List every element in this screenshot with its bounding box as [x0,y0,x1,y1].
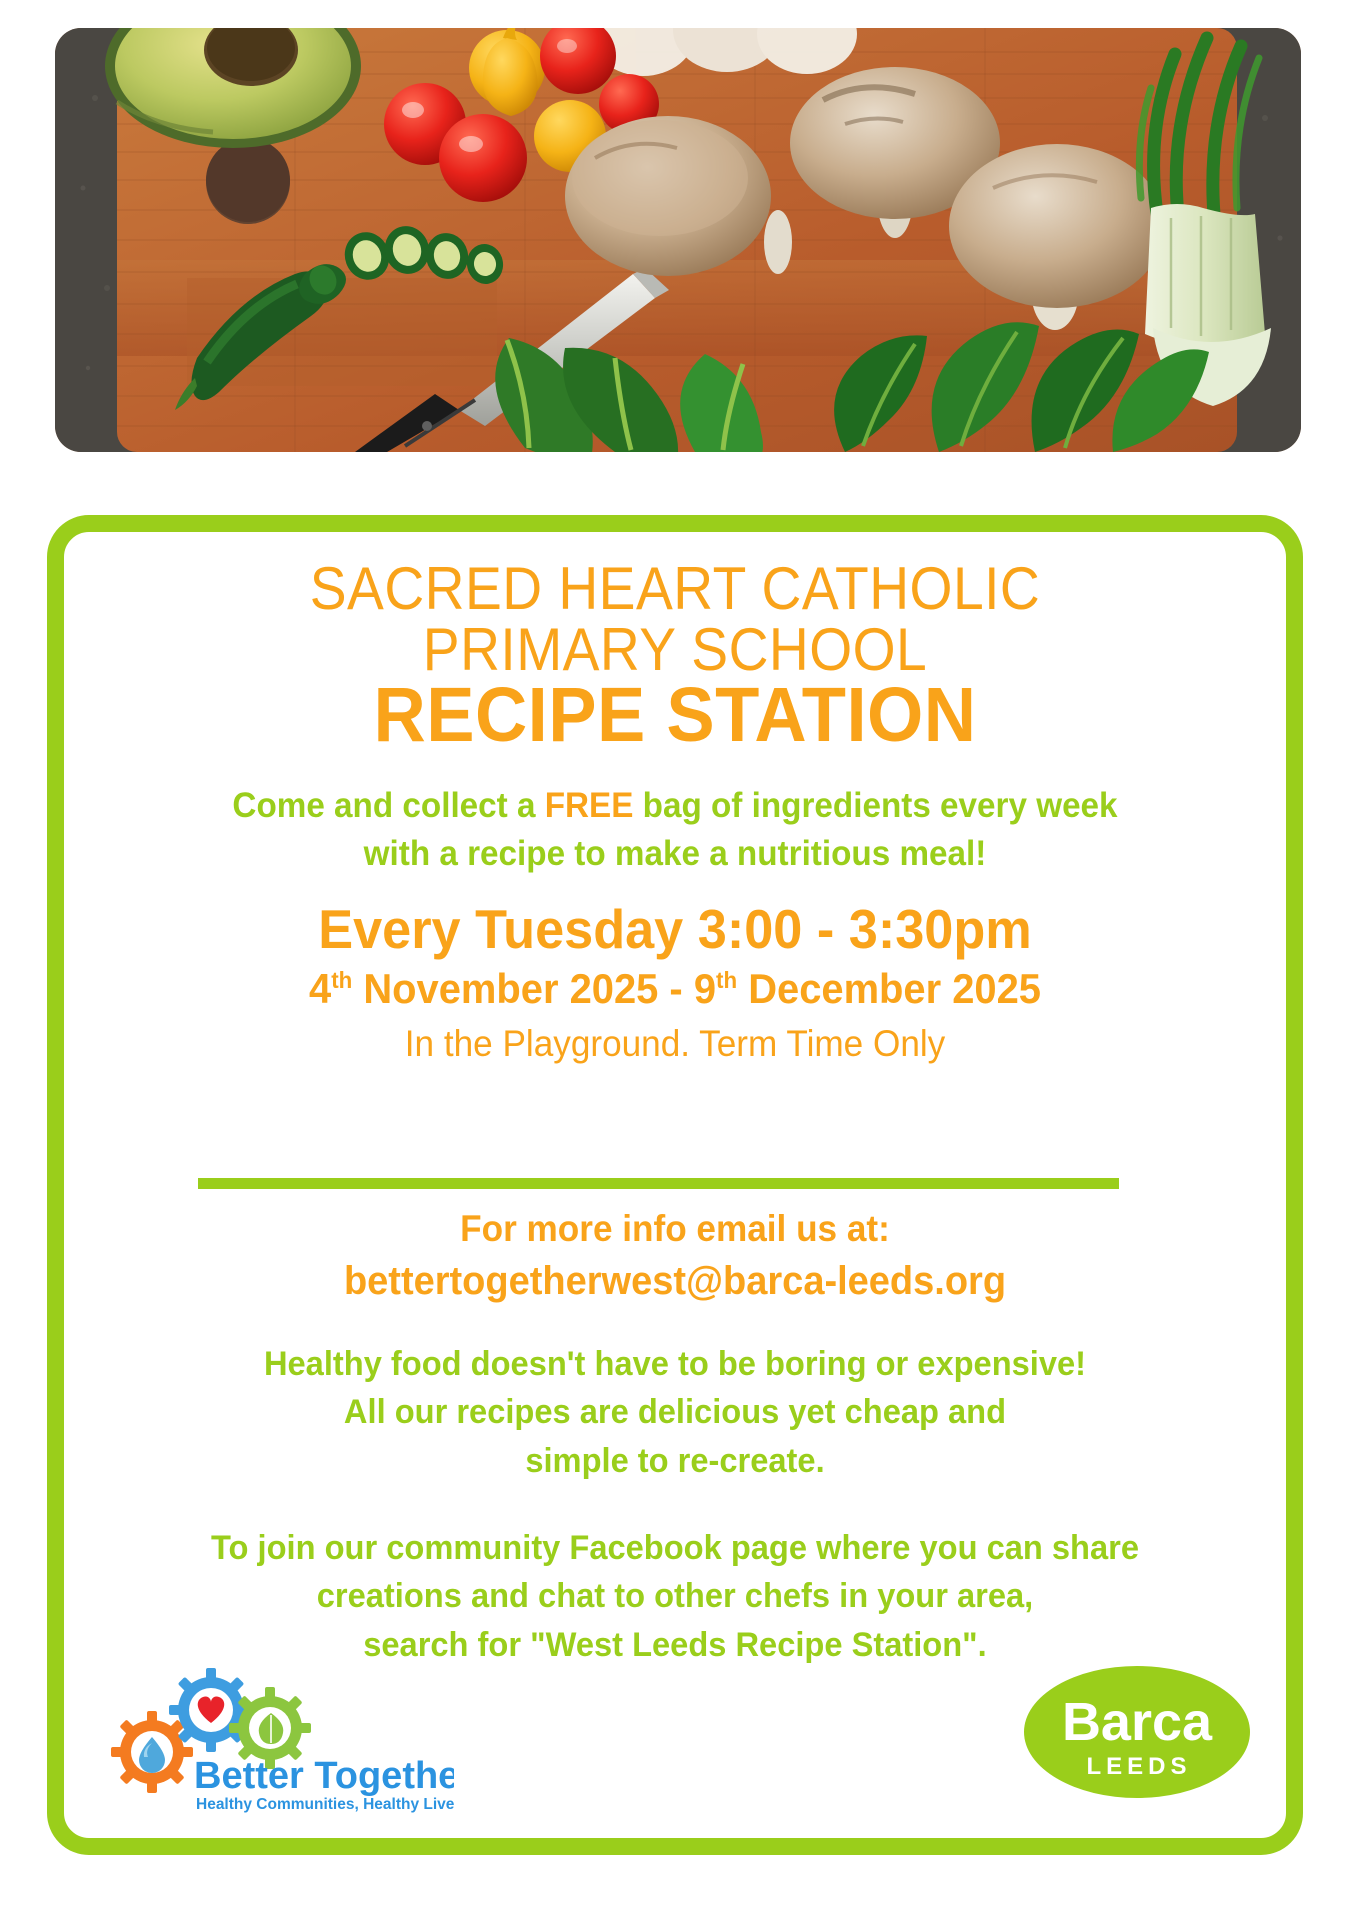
lead-text-before-free: Come and collect a [232,786,544,825]
schedule-block: Every Tuesday 3:00 - 3:30pm 4th November… [64,897,1286,1072]
lead-line-2: with a recipe to make a nutritious meal! [364,834,987,873]
section-divider [198,1178,1119,1189]
hero-food-photo [55,28,1301,452]
schedule-location: In the Playground. Term Time Only [95,1016,1256,1072]
barca-leeds-sub: LEEDS [1086,1753,1191,1780]
date-end-rest: December 2025 [737,965,1041,1012]
facebook-line-2: creations and chat to other chefs in you… [98,1572,1252,1620]
facebook-line-1: To join our community Facebook page wher… [98,1524,1252,1572]
lead-free-highlight: FREE [545,786,634,825]
contact-block: For more info email us at: bettertogethe… [64,1204,1286,1309]
page-title: RECIPE STATION [101,677,1250,754]
better-together-wordmark: Better Together [194,1755,454,1797]
healthy-food-line-1: Healthy food doesn't have to be boring o… [98,1340,1252,1388]
content-frame: SACRED HEART CATHOLIC PRIMARY SCHOOL REC… [47,515,1303,1855]
barca-wordmark: Barca [1062,1692,1213,1752]
schedule-dates: 4th November 2025 - 9th December 2025 [95,962,1256,1017]
poster-root: SACRED HEART CATHOLIC PRIMARY SCHOOL REC… [0,0,1357,1920]
healthy-food-line-2: All our recipes are delicious yet cheap … [98,1388,1252,1436]
contact-email[interactable]: bettertogetherwest@barca-leeds.org [95,1254,1256,1308]
barca-leeds-logo-graphic: Barca LEEDS [1022,1662,1252,1812]
contact-label: For more info email us at: [95,1204,1256,1254]
eggs [591,28,857,76]
better-together-logo-graphic: Better Together Healthy Communities, Hea… [106,1666,454,1816]
date-end-day: 9 [694,965,716,1012]
facebook-copy: To join our community Facebook page wher… [98,1524,1252,1669]
date-end-suffix: th [716,967,737,993]
healthy-food-copy: Healthy food doesn't have to be boring o… [98,1340,1252,1485]
schedule-time: Every Tuesday 3:00 - 3:30pm [95,897,1256,962]
lead-text-after-free: bag of ingredients every week [633,786,1117,825]
better-together-logo: Better Together Healthy Communities, Hea… [106,1666,454,1816]
cog-orange-icon [111,1711,193,1793]
date-start-rest: November 2025 - [352,965,694,1012]
school-name: SACRED HEART CATHOLIC PRIMARY SCHOOL [113,558,1237,680]
school-name-line-1: SACRED HEART CATHOLIC [113,558,1237,619]
date-start-suffix: th [331,967,352,993]
better-together-tagline: Healthy Communities, Healthy Lives [196,1796,454,1813]
lead-paragraph: Come and collect a FREE bag of ingredien… [114,782,1237,879]
healthy-food-line-3: simple to re-create. [98,1437,1252,1485]
date-start-day: 4 [309,965,331,1012]
hero-illustration [55,28,1301,452]
barca-leeds-logo: Barca LEEDS [1022,1662,1252,1812]
